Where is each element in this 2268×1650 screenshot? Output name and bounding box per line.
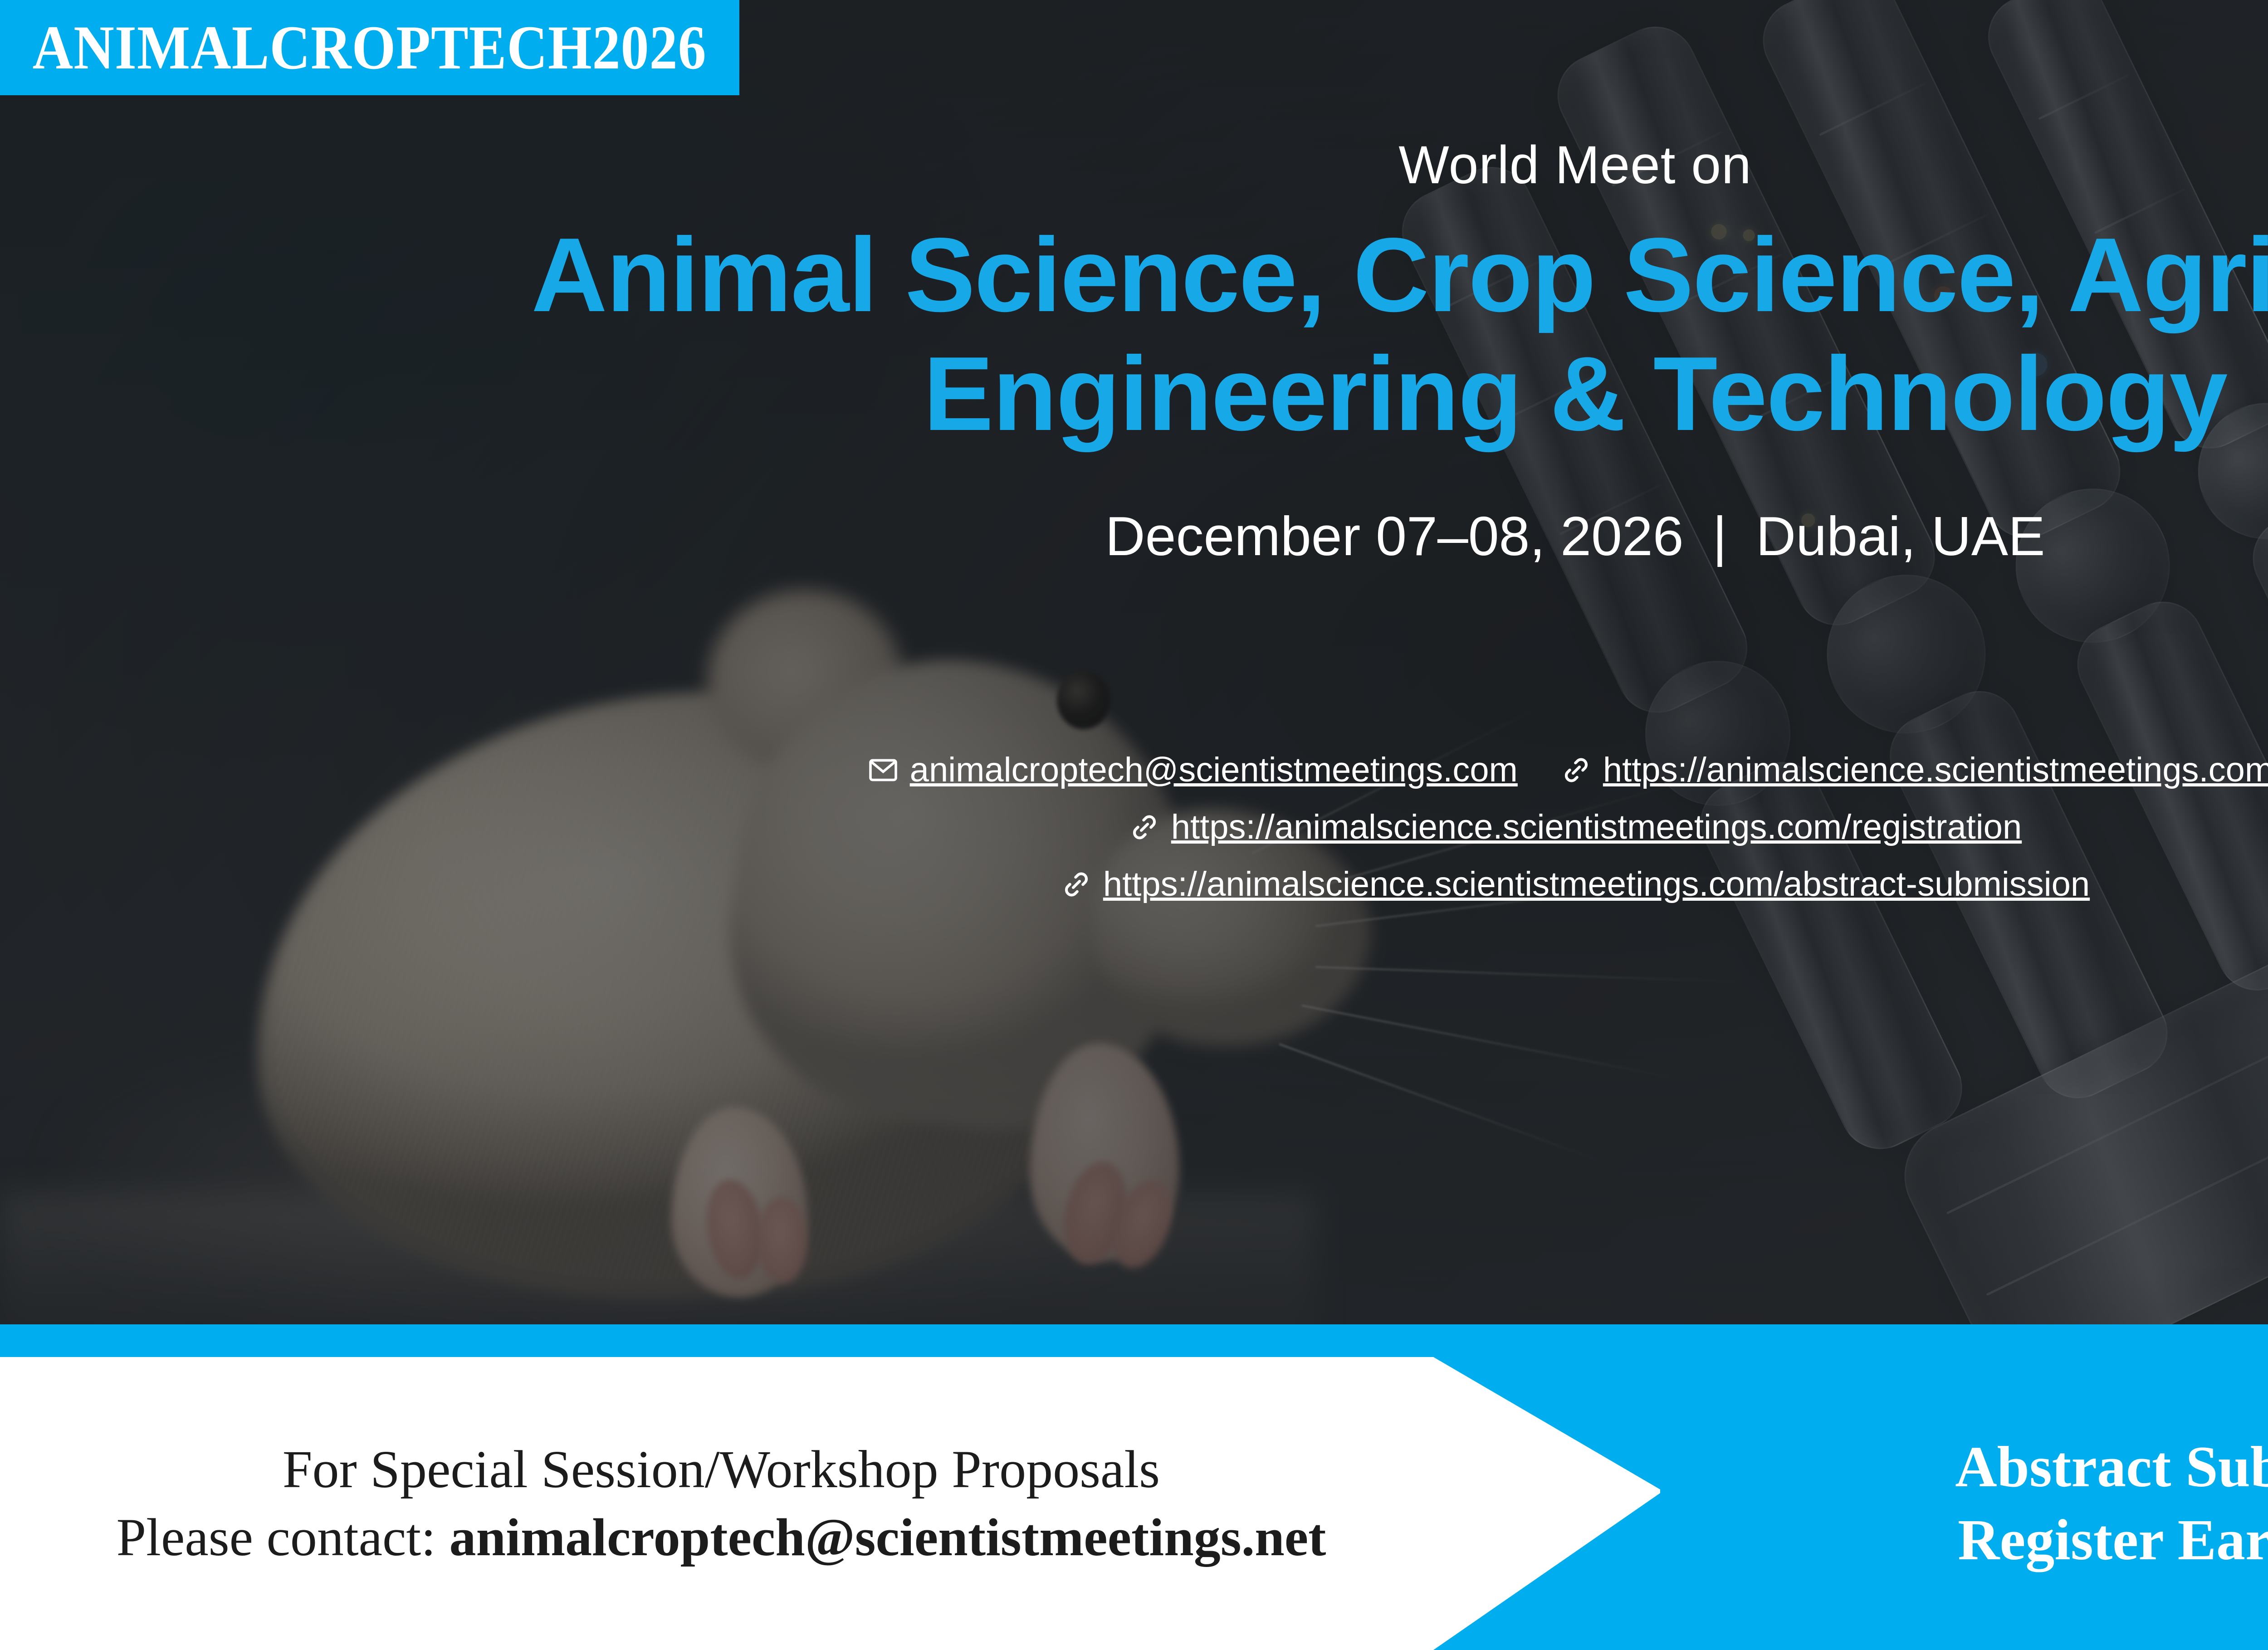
page-title: Animal Science, Crop Science, Agricultur… [0,216,2268,454]
contact-website-link[interactable]: https://animalscience.scientistmeetings.… [1560,753,2268,787]
contact-abstract-submission-link[interactable]: https://animalscience.scientistmeetings.… [1061,867,2090,902]
contact-row: https://animalscience.scientistmeetings.… [0,867,2268,902]
event-location: Dubai, UAE [1756,505,2045,567]
special-session-contact-line: Please contact: animalcroptech@scientist… [117,1509,1326,1566]
bottom-ribbon: For Special Session/Workshop Proposals P… [0,1324,2268,1650]
page-title-line-1: Animal Science, Crop Science, Agricultur… [0,216,2268,335]
link-icon [1061,869,1092,900]
special-session-heading: For Special Session/Workshop Proposals [283,1441,1160,1498]
submissions-callout: Abstract Submissions Are Now Open Regist… [1678,1357,2268,1650]
logo-text: ANIMALCROPTECH2026 [33,16,707,79]
event-kicker: World Meet on [0,136,2268,195]
contact-email-text: animalcroptech@scientistmeetings.com [910,753,1518,787]
submissions-open-headline: Abstract Submissions Are Now Open [1955,1435,2268,1499]
event-date: December 07–08, 2026 [1105,505,1683,567]
register-early-headline: Register Early to Reserve Your Place [1958,1508,2268,1572]
special-session-callout: For Special Session/Workshop Proposals P… [0,1357,1442,1650]
hero-section: World Meet on Animal Science, Crop Scien… [0,136,2268,568]
page-title-line-2: Engineering & Technology [0,335,2268,454]
contact-block: animalcroptech@scientistmeetings.com htt… [0,753,2268,902]
contact-website-text: https://animalscience.scientistmeetings.… [1603,753,2268,787]
conference-banner: ANIMALCROPTECH2026 World Meet on Animal … [0,0,2268,1650]
contact-registration-text: https://animalscience.scientistmeetings.… [1171,810,2022,845]
contact-registration-link[interactable]: https://animalscience.scientistmeetings.… [1129,810,2022,845]
contact-row: animalcroptech@scientistmeetings.com htt… [0,753,2268,787]
contact-row: https://animalscience.scientistmeetings.… [0,810,2268,845]
conference-logo-badge: ANIMALCROPTECH2026 [0,0,739,95]
contact-email-link[interactable]: animalcroptech@scientistmeetings.com [867,753,1518,787]
contact-abstract-submission-text: https://animalscience.scientistmeetings.… [1103,867,2090,902]
link-icon [1560,754,1592,786]
special-session-email[interactable]: animalcroptech@scientistmeetings.net [449,1508,1326,1567]
please-contact-label: Please contact: [117,1508,450,1567]
envelope-icon [867,754,899,786]
link-icon [1129,811,1160,843]
event-date-location: December 07–08, 2026 | Dubai, UAE [0,504,2268,568]
date-location-separator: | [1699,504,1741,568]
